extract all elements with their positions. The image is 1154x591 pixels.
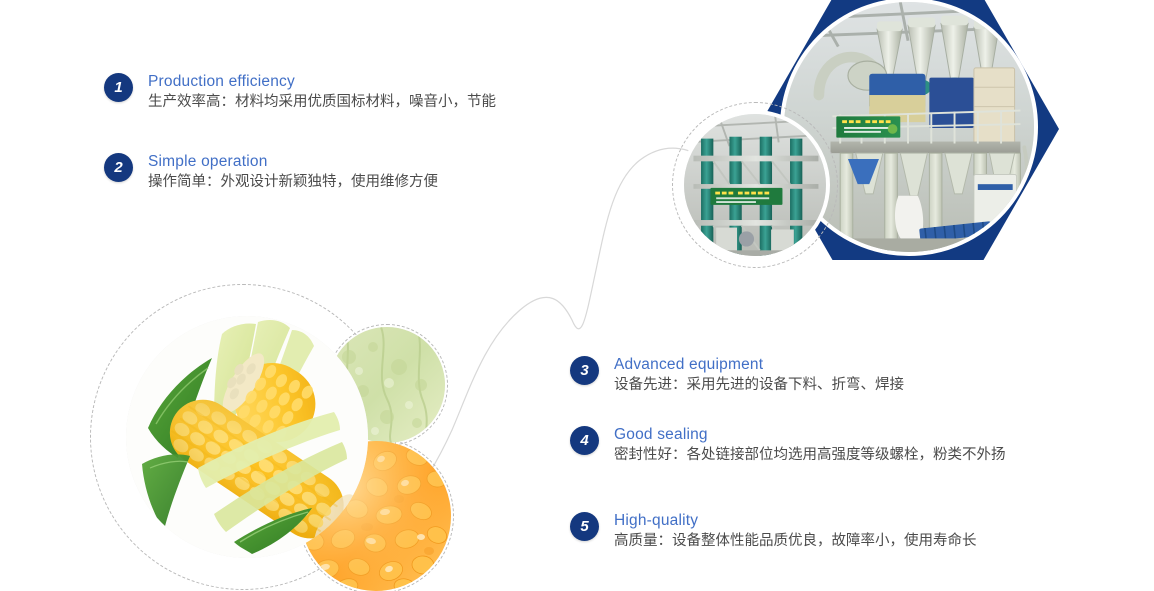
feature-item-2: 2 Simple operation 操作简单：外观设计新颖独特，使用维修方便 <box>104 152 438 193</box>
feature-title-4: Good sealing <box>614 425 1006 444</box>
feature-desc-2: 操作简单：外观设计新颖独特，使用维修方便 <box>148 172 438 193</box>
green-milling-equipment-photo <box>680 110 830 260</box>
feature-title-1: Production efficiency <box>148 72 496 91</box>
feature-title-2: Simple operation <box>148 152 438 171</box>
feature-text-5: High-quality 高质量：设备整体性能品质优良，故障率小，使用寿命长 <box>614 511 977 552</box>
feature-text-2: Simple operation 操作简单：外观设计新颖独特，使用维修方便 <box>148 152 438 193</box>
feature-badge-4: 4 <box>570 426 599 455</box>
corn-cob-photo <box>126 316 368 558</box>
feature-text-1: Production efficiency 生产效率高：材料均采用优质国标材料，… <box>148 72 496 113</box>
feature-title-3: Advanced equipment <box>614 355 904 374</box>
feature-item-5: 5 High-quality 高质量：设备整体性能品质优良，故障率小，使用寿命长 <box>570 511 977 552</box>
corn-photo-cluster <box>88 282 488 591</box>
feature-text-3: Advanced equipment 设备先进：采用先进的设备下料、折弯、焊接 <box>614 355 904 396</box>
feature-desc-5: 高质量：设备整体性能品质优良，故障率小，使用寿命长 <box>614 531 977 552</box>
feature-title-5: High-quality <box>614 511 977 530</box>
feature-text-4: Good sealing 密封性好：各处链接部位均选用高强度等级螺栓，粉类不外扬 <box>614 425 1006 466</box>
feature-desc-4: 密封性好：各处链接部位均选用高强度等级螺栓，粉类不外扬 <box>614 445 1006 466</box>
feature-desc-1: 生产效率高：材料均采用优质国标材料，噪音小，节能 <box>148 92 496 113</box>
feature-item-1: 1 Production efficiency 生产效率高：材料均采用优质国标材… <box>104 72 496 113</box>
feature-item-4: 4 Good sealing 密封性好：各处链接部位均选用高强度等级螺栓，粉类不… <box>570 425 1006 466</box>
feature-item-3: 3 Advanced equipment 设备先进：采用先进的设备下料、折弯、焊… <box>570 355 904 396</box>
feature-badge-2: 2 <box>104 153 133 182</box>
feature-desc-3: 设备先进：采用先进的设备下料、折弯、焊接 <box>614 375 904 396</box>
feature-highlights-page: 1 Production efficiency 生产效率高：材料均采用优质国标材… <box>0 0 1154 591</box>
feature-badge-5: 5 <box>570 512 599 541</box>
feature-badge-1: 1 <box>104 73 133 102</box>
hexagon-photo-cluster <box>660 0 1080 284</box>
feature-badge-3: 3 <box>570 356 599 385</box>
